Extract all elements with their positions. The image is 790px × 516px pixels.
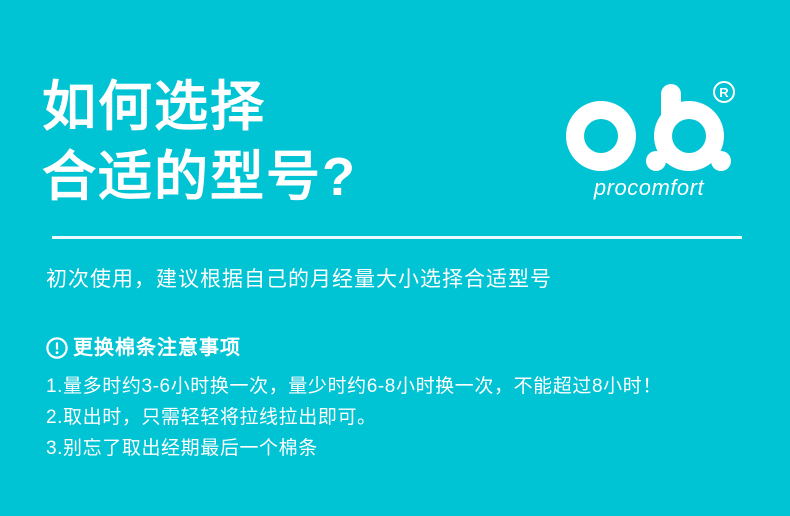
exclamation-circle-icon [46, 337, 68, 359]
notice-heading: 更换棉条注意事项 [46, 335, 241, 361]
promo-banner: 如何选择 合适的型号? R procomfort [0, 0, 790, 516]
notice-heading-label: 更换棉条注意事项 [73, 335, 241, 361]
page-title-line-1: 如何选择 [42, 72, 357, 142]
subtitle: 初次使用，建议根据自己的月经量大小选择合适型号 [46, 265, 552, 295]
page-title: 如何选择 合适的型号? [42, 72, 357, 212]
list-item: 3.别忘了取出经期最后一个棉条 [46, 434, 662, 464]
notice-list: 1.量多时约3-6小时换一次，量少时约6-8小时换一次，不能超过8小时！ 2.取… [46, 372, 662, 464]
svg-text:R: R [719, 85, 729, 100]
list-item: 2.取出时，只需轻轻将拉线拉出即可。 [46, 403, 662, 433]
ob-wordmark-icon: R [554, 78, 744, 174]
brand-tagline: procomfort [554, 176, 744, 200]
divider [52, 236, 742, 239]
page-title-line-2: 合适的型号? [42, 142, 357, 212]
brand-logo: R procomfort [554, 78, 744, 200]
list-item: 1.量多时约3-6小时换一次，量少时约6-8小时换一次，不能超过8小时！ [46, 372, 662, 402]
